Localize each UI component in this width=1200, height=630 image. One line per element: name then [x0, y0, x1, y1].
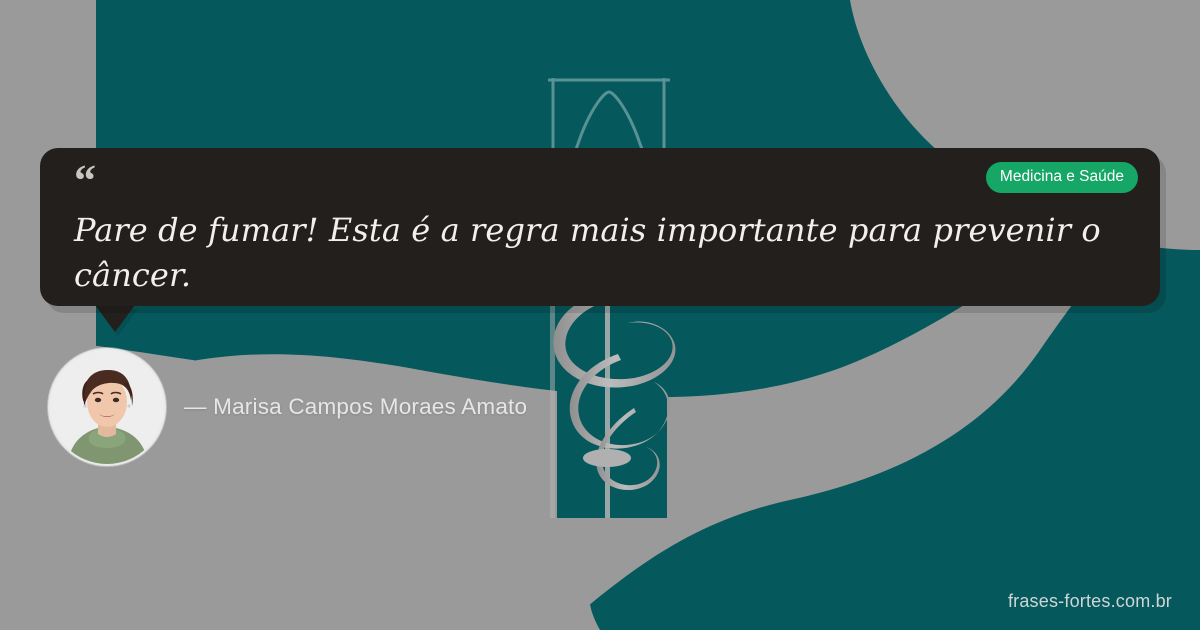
quote-text: Pare de fumar! Esta é a regra mais impor… [74, 208, 1114, 298]
quote-card-image: “ Pare de fumar! Esta é a regra mais imp… [0, 0, 1200, 630]
author-block: — Marisa Campos Moraes Amato [48, 348, 527, 466]
avatar-portrait-icon [50, 350, 164, 464]
speech-bubble-tail [95, 305, 135, 332]
site-url[interactable]: frases-fortes.com.br [1008, 591, 1172, 612]
quote-mark-icon: “ [74, 164, 1126, 198]
quote-card: “ Pare de fumar! Esta é a regra mais imp… [40, 148, 1160, 306]
background-artwork [0, 0, 1200, 630]
avatar [48, 348, 166, 466]
category-badge[interactable]: Medicina e Saúde [986, 162, 1138, 193]
author-name: — Marisa Campos Moraes Amato [184, 394, 527, 420]
